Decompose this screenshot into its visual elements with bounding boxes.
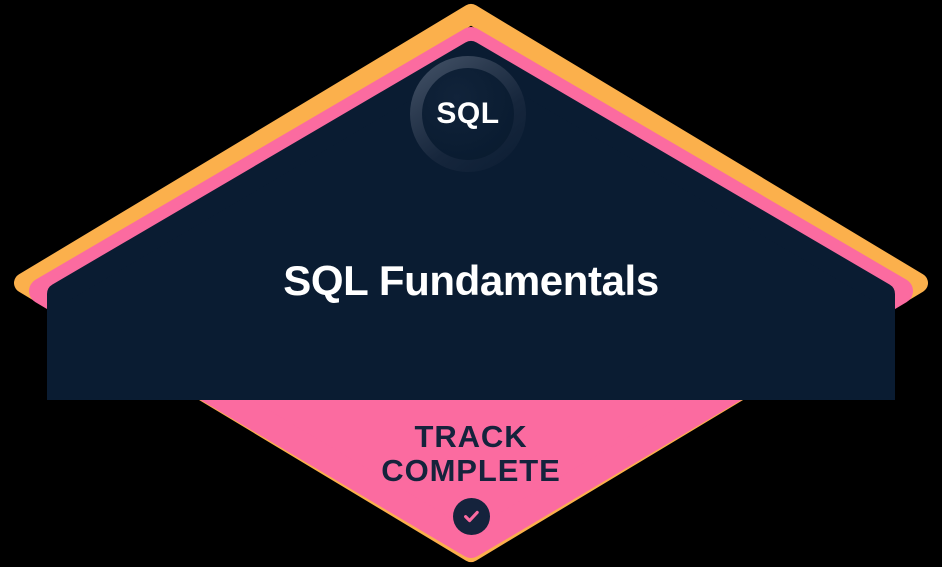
track-completion-badge: SQL SQL Fundamentals TRACK COMPLETE	[0, 0, 942, 567]
badge-shape-graphic	[0, 0, 942, 567]
inner-panel	[58, 52, 884, 400]
